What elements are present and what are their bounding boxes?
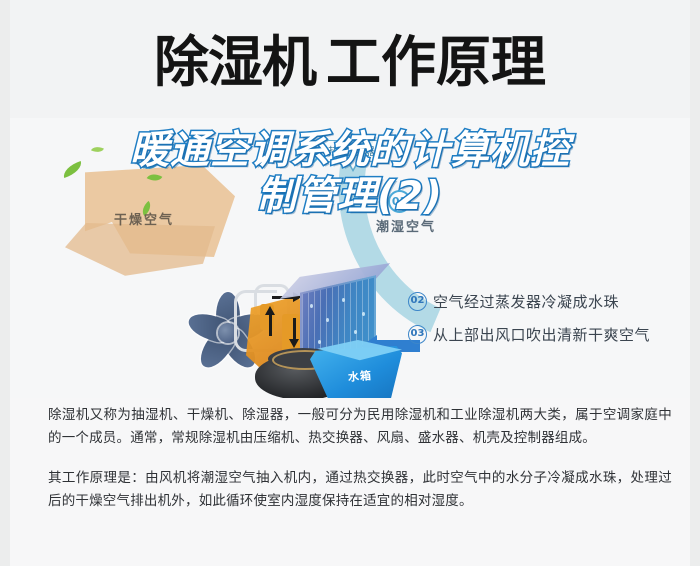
- page-title: 除湿机工作原理: [10, 22, 690, 102]
- water-droplet: [362, 312, 365, 316]
- leaf-icon: [61, 161, 84, 178]
- leaf-icon: [91, 144, 104, 155]
- flow-arrow-down-head: [289, 339, 299, 348]
- dehumidifier-diagram: 水箱 02 热交换器 03 干燥空气 01 潮湿空气 02 空气经过蒸发器冷凝成…: [10, 118, 690, 398]
- step-text: 空气经过蒸发器冷凝成水珠: [433, 291, 619, 312]
- flow-arrow-up: [269, 314, 272, 336]
- page-title-part1: 除湿机: [154, 30, 316, 94]
- dry-air-caption: 干燥空气: [114, 209, 174, 228]
- water-droplet: [326, 318, 329, 322]
- water-droplet: [354, 330, 357, 334]
- list-item: 03 从上部出风口吹出清新干爽空气: [408, 324, 690, 345]
- step-number: 03: [408, 325, 427, 344]
- water-droplet: [342, 298, 345, 302]
- step-number: 02: [408, 292, 427, 311]
- body-paragraph-1: 除湿机又称为抽湿机、干燥机、除湿器，一般可分为民用除湿机和工业除湿机两大类，属于…: [48, 404, 672, 450]
- step-text: 从上部出风口吹出清新干爽空气: [433, 324, 650, 345]
- water-droplet: [310, 304, 313, 308]
- flow-arrow-down: [293, 318, 296, 340]
- flow-arrow-up-head: [265, 306, 275, 315]
- body-paragraph-2: 其工作原理是：由风机将潮湿空气抽入机内，通过热交换器，此时空气中的水分子冷凝成水…: [48, 467, 672, 513]
- content-sheet: 除湿机工作原理: [10, 0, 690, 566]
- list-item: 02 空气经过蒸发器冷凝成水珠: [408, 291, 690, 312]
- diagram-badge-01: 01: [388, 190, 411, 213]
- page-title-part2: 工作原理: [326, 30, 546, 94]
- title-banner: 除湿机工作原理: [10, 0, 690, 120]
- water-tank-label: 水箱: [347, 367, 372, 385]
- humid-air-caption: 潮湿空气: [376, 216, 436, 235]
- heat-exchanger-callout: 热交换器: [319, 140, 385, 162]
- process-step-list: 02 空气经过蒸发器冷凝成水珠 03 从上部出风口吹出清新干爽空气: [408, 291, 690, 357]
- heat-exchanger-callout-tail: [346, 160, 360, 172]
- page-root: 除湿机工作原理: [0, 0, 700, 566]
- article-body: 除湿机又称为抽湿机、干燥机、除湿器，一般可分为民用除湿机和工业除湿机两大类，属于…: [20, 404, 700, 513]
- water-droplet: [318, 340, 321, 344]
- dry-air-flow-shape-secondary: [65, 223, 215, 278]
- diagram-badge-02: 02: [296, 142, 319, 165]
- diagram-badge-03: 03: [137, 146, 160, 169]
